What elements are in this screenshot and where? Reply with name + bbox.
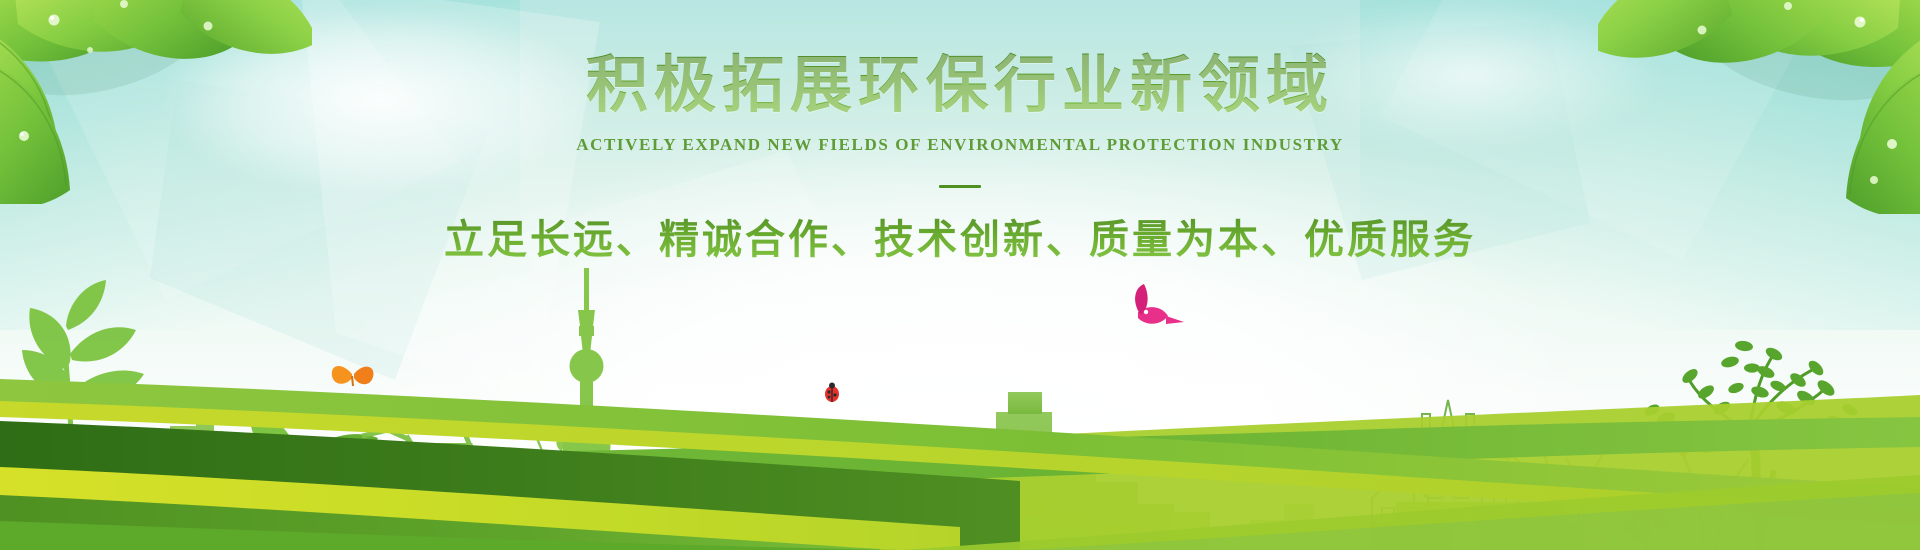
banner-text-block: 积极拓展环保行业新领域 ACTIVELY EXPAND NEW FIELDS O…: [0, 52, 1920, 265]
wave-ribbons: [0, 335, 1920, 550]
eco-banner: 积极拓展环保行业新领域 ACTIVELY EXPAND NEW FIELDS O…: [0, 0, 1920, 550]
hummingbird-icon: [1135, 284, 1184, 324]
page-title: 积极拓展环保行业新领域: [0, 52, 1920, 121]
subtitle-english: ACTIVELY EXPAND NEW FIELDS OF ENVIRONMEN…: [0, 135, 1920, 155]
divider-line: [939, 185, 981, 188]
divider-wrap: [0, 175, 1920, 189]
slogan-text: 立足长远、精诚合作、技术创新、质量为本、优质服务: [0, 207, 1920, 265]
